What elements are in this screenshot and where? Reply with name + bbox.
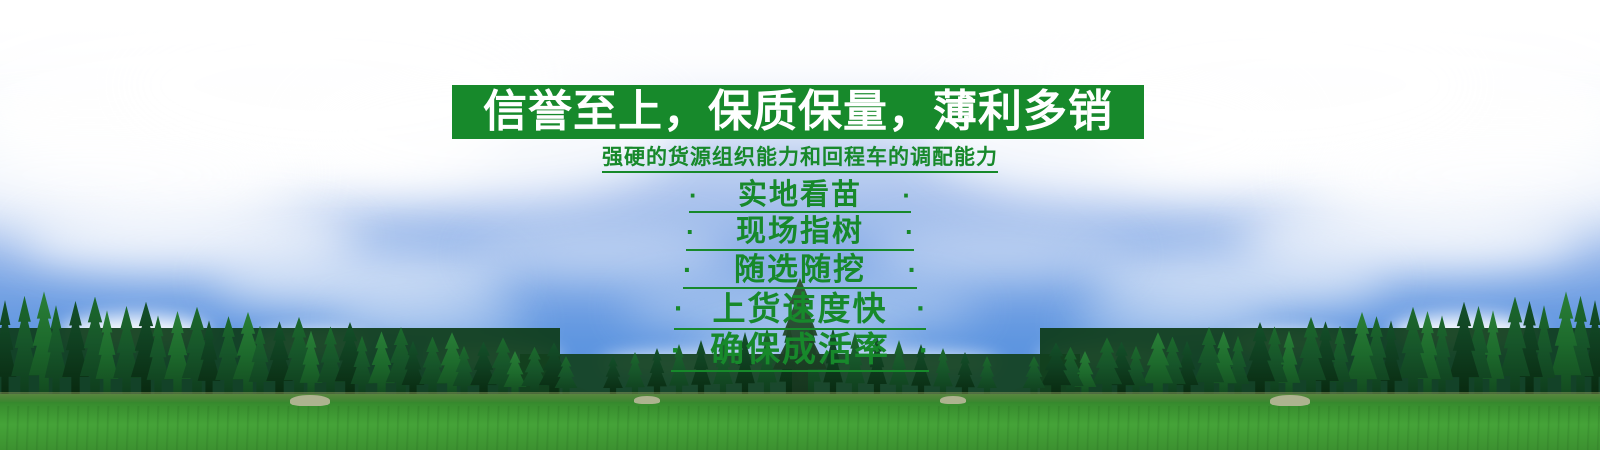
headline-text: 信誉至上，保质保量，薄利多销 bbox=[483, 90, 1113, 134]
feature-item: ·上货速度快· bbox=[674, 292, 926, 330]
subtitle-text: 强硬的货源组织能力和回程车的调配能力 bbox=[602, 146, 998, 173]
bullet-right-icon: · bbox=[902, 182, 911, 208]
feature-item: ·实地看苗· bbox=[689, 180, 911, 213]
headline-bar: 信誉至上，保质保量，薄利多销 bbox=[452, 85, 1144, 139]
bullet-right-icon: · bbox=[908, 256, 917, 284]
feature-item-label: 现场指树 bbox=[695, 216, 905, 248]
feature-item-label: 确保成活率 bbox=[681, 333, 919, 369]
subtitle: 强硬的货源组织能力和回程车的调配能力 bbox=[0, 146, 1600, 173]
bullet-right-icon: · bbox=[916, 295, 926, 324]
banner-content: 信誉至上，保质保量，薄利多销 强硬的货源组织能力和回程车的调配能力 ·实地看苗·… bbox=[0, 0, 1600, 450]
promo-banner: 信誉至上，保质保量，薄利多销 强硬的货源组织能力和回程车的调配能力 ·实地看苗·… bbox=[0, 0, 1600, 450]
feature-item: ·确保成活率· bbox=[671, 333, 929, 372]
feature-item: ·现场指树· bbox=[686, 216, 914, 251]
bullet-left-icon: · bbox=[671, 336, 681, 366]
bullet-left-icon: · bbox=[683, 256, 692, 284]
feature-item-label: 上货速度快 bbox=[684, 292, 917, 327]
feature-item-label: 随选随挖 bbox=[692, 254, 907, 287]
bullet-left-icon: · bbox=[686, 219, 695, 246]
bullet-left-icon: · bbox=[674, 295, 684, 324]
feature-item: ·随选随挖· bbox=[683, 254, 917, 290]
bullet-right-icon: · bbox=[919, 336, 929, 366]
bullet-right-icon: · bbox=[905, 219, 914, 246]
feature-item-label: 实地看苗 bbox=[698, 180, 903, 210]
bullet-left-icon: · bbox=[689, 182, 698, 208]
feature-list: ·实地看苗··现场指树··随选随挖··上货速度快··确保成活率· bbox=[0, 180, 1600, 375]
